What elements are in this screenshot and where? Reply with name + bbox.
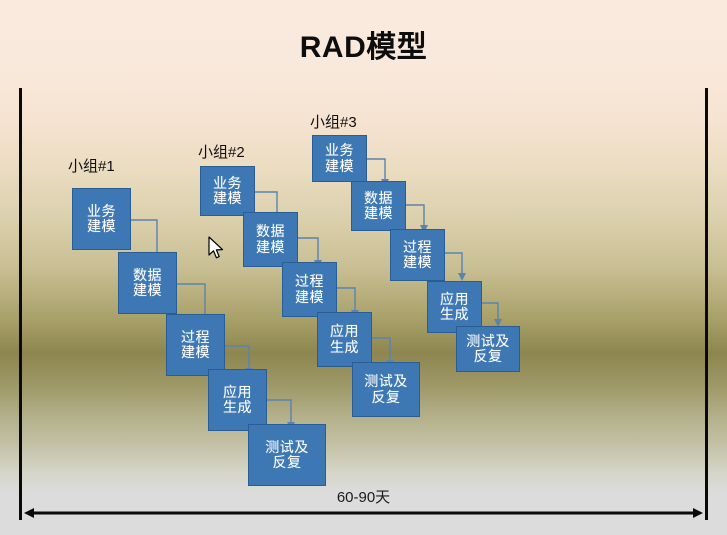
- phase-box-g3-testing-iteration[interactable]: 测试及 反复: [456, 326, 520, 372]
- phase-label-line2: 建模: [87, 219, 116, 234]
- phase-label-line2: 建模: [213, 191, 242, 206]
- vertical-axis-left: [19, 88, 22, 520]
- phase-label-line2: 建模: [403, 255, 432, 270]
- phase-box-g2-testing-iteration[interactable]: 测试及 反复: [352, 362, 420, 417]
- phase-box-g3-process-modeling[interactable]: 过程 建模: [390, 229, 445, 281]
- phase-label-line1: 业务: [325, 143, 354, 158]
- group-label-2: 小组#2: [198, 141, 245, 162]
- phase-box-g2-process-modeling[interactable]: 过程 建模: [282, 262, 337, 317]
- phase-box-g1-data-modeling[interactable]: 数据 建模: [118, 252, 177, 314]
- group-label-1: 小组#1: [68, 155, 115, 176]
- phase-label-line1: 测试及: [265, 440, 309, 455]
- mouse-pointer-icon: [208, 236, 226, 262]
- phase-label-line2: 生成: [223, 400, 252, 415]
- phase-box-g2-business-modeling[interactable]: 业务 建模: [200, 166, 255, 216]
- phase-label-line2: 建模: [256, 240, 285, 255]
- phase-box-g1-business-modeling[interactable]: 业务 建模: [72, 188, 131, 250]
- phase-label-line1: 测试及: [364, 374, 408, 389]
- phase-box-g3-data-modeling[interactable]: 数据 建模: [351, 181, 406, 231]
- rad-model-slide: RAD模型 60-90天 小组#1 业务 建模 数据 建模: [0, 0, 727, 535]
- phase-label-line1: 业务: [87, 204, 116, 219]
- phase-box-g2-data-modeling[interactable]: 数据 建模: [243, 212, 298, 267]
- phase-label-line2: 反复: [273, 455, 302, 470]
- page-title: RAD模型: [0, 22, 727, 66]
- phase-label-line2: 反复: [372, 390, 401, 405]
- phase-box-g1-testing-iteration[interactable]: 测试及 反复: [248, 424, 326, 486]
- phase-box-g1-application-generation[interactable]: 应用 生成: [208, 369, 267, 431]
- phase-box-g2-application-generation[interactable]: 应用 生成: [317, 312, 372, 367]
- phase-label-line1: 应用: [330, 324, 359, 339]
- phase-label-line1: 过程: [181, 330, 210, 345]
- phase-label-line1: 应用: [223, 385, 252, 400]
- duration-double-arrow: [22, 504, 705, 522]
- phase-label-line1: 过程: [295, 274, 324, 289]
- phase-label-line1: 数据: [133, 268, 162, 283]
- phase-label-line2: 建模: [295, 290, 324, 305]
- phase-label-line2: 建模: [364, 206, 393, 221]
- phase-label-line2: 生成: [440, 307, 469, 322]
- phase-label-line2: 建模: [133, 283, 162, 298]
- phase-label-line1: 应用: [440, 292, 469, 307]
- phase-label-line2: 生成: [330, 340, 359, 355]
- phase-label-line1: 数据: [256, 224, 285, 239]
- group-label-3: 小组#3: [310, 111, 357, 132]
- phase-label-line2: 建模: [181, 345, 210, 360]
- phase-label-line2: 反复: [474, 349, 503, 364]
- phase-label-line1: 测试及: [466, 334, 510, 349]
- phase-box-g3-business-modeling[interactable]: 业务 建模: [312, 135, 367, 182]
- phase-box-g1-process-modeling[interactable]: 过程 建模: [166, 314, 225, 376]
- phase-label-line1: 过程: [403, 240, 432, 255]
- phase-label-line1: 业务: [213, 176, 242, 191]
- phase-label-line2: 建模: [325, 159, 354, 174]
- vertical-axis-right: [705, 88, 708, 520]
- phase-label-line1: 数据: [364, 191, 393, 206]
